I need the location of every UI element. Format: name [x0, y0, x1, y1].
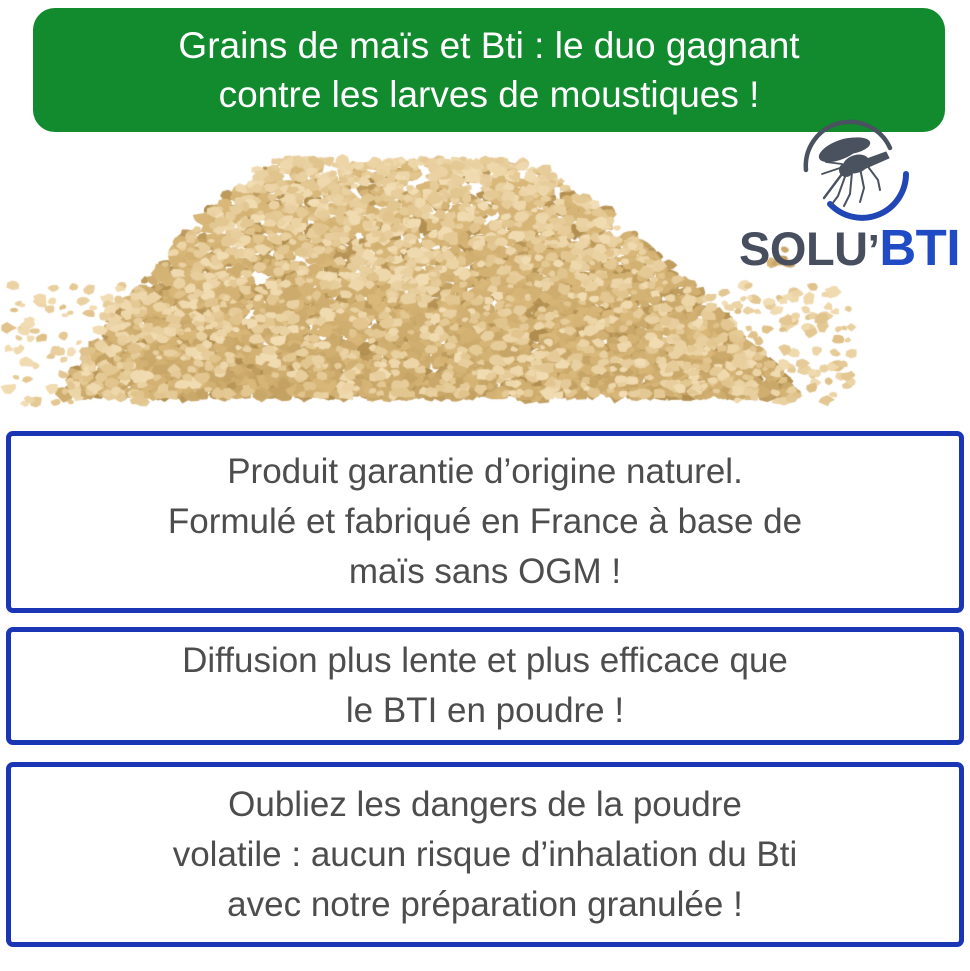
page-title: Grains de maïs et Bti : le duo gagnant c… — [164, 21, 813, 119]
brand-logo: SOLU’BTI — [690, 118, 960, 290]
feature-box-slow-diffusion: Diffusion plus lente et plus efficace qu… — [6, 627, 964, 745]
feature-box-no-inhalation-risk: Oubliez les dangers de la poudre volatil… — [6, 762, 964, 947]
wordmark-solu-rest: OLU — [770, 222, 868, 275]
header-banner: Grains de maïs et Bti : le duo gagnant c… — [33, 8, 945, 132]
feature-box-origin-natural: Produit garantie d’origine naturel. Form… — [6, 431, 964, 613]
feature-text: Oubliez les dangers de la poudre volatil… — [163, 780, 808, 930]
wordmark-solu-initial: S — [739, 222, 770, 275]
feature-text: Produit garantie d’origine naturel. Form… — [158, 447, 812, 597]
wordmark-bti: BTI — [879, 219, 960, 276]
mosquito-circle-icon — [794, 118, 914, 226]
brand-wordmark: SOLU’BTI — [690, 218, 960, 280]
feature-text: Diffusion plus lente et plus efficace qu… — [172, 636, 798, 736]
wordmark-apostrophe: ’ — [868, 226, 880, 275]
